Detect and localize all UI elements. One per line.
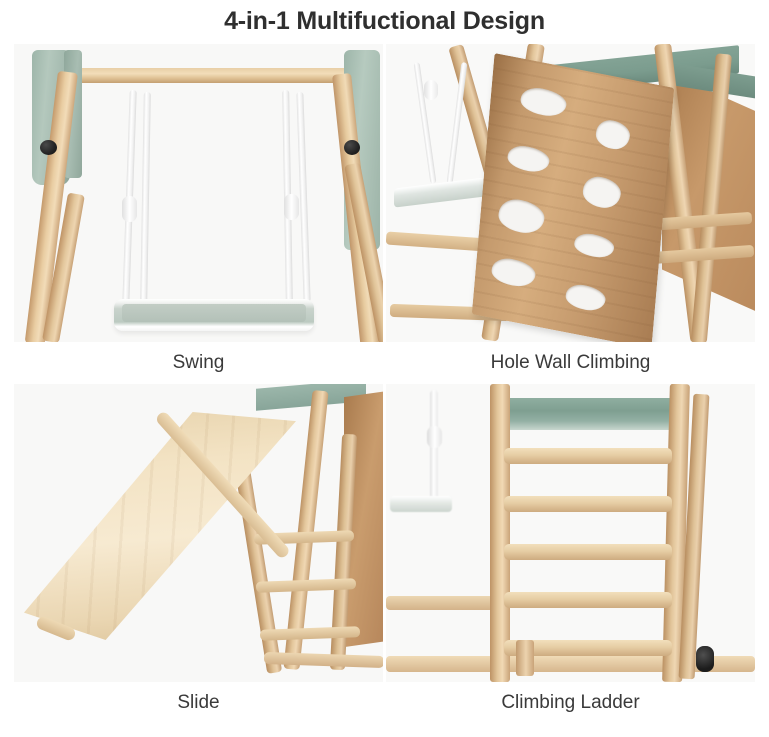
- swing-seat: [390, 496, 452, 512]
- ladder-rung: [504, 448, 672, 464]
- frame-support: [516, 640, 534, 676]
- feature-cell-climbing-ladder: Climbing Ladder: [386, 384, 755, 724]
- climbing-ladder-photo: [386, 384, 755, 682]
- ladder-rung: [504, 496, 672, 512]
- feature-cell-hole-wall-climbing: Hole Wall Climbing: [386, 44, 755, 384]
- ladder-rung: [504, 544, 672, 560]
- climbing-hole: [497, 196, 545, 237]
- swing-seat: [114, 299, 314, 331]
- swing-photo: [14, 44, 383, 342]
- climbing-hole: [565, 282, 607, 314]
- swing-rope-knot: [424, 80, 438, 100]
- page-title: 4-in-1 Multifuctional Design: [0, 0, 769, 40]
- feature-caption-slide: Slide: [14, 682, 383, 724]
- hole-wall-climbing-photo: [386, 44, 755, 342]
- climbing-hole: [491, 255, 537, 289]
- swing-rope-knot: [122, 196, 137, 222]
- climbing-hole: [520, 85, 568, 120]
- slide-photo: [14, 384, 383, 682]
- ladder-rung: [504, 592, 672, 608]
- swing-seat-surface: [122, 304, 306, 322]
- swing-left-knob-icon: [40, 140, 57, 155]
- feature-caption-swing: Swing: [14, 342, 383, 384]
- feature-caption-hole-wall-climbing: Hole Wall Climbing: [386, 342, 755, 384]
- swing-rope-knot: [284, 194, 299, 220]
- feature-grid: Swing: [14, 44, 755, 724]
- climbing-hole: [573, 231, 614, 261]
- feature-cell-swing: Swing: [14, 44, 383, 384]
- feature-caption-climbing-ladder: Climbing Ladder: [386, 682, 755, 724]
- hole-climbing-board: [472, 53, 674, 342]
- ladder-left-rail: [490, 384, 510, 682]
- ladder-top-platform: [504, 398, 672, 430]
- climbing-hole: [582, 174, 622, 211]
- swing-rope-knot: [427, 426, 442, 448]
- feature-cell-slide: Slide: [14, 384, 383, 724]
- swing-top-beam: [42, 68, 372, 83]
- swing-right-knob-icon: [344, 140, 360, 155]
- wheel-icon: [696, 646, 714, 672]
- climbing-hole: [595, 118, 631, 152]
- climbing-hole: [507, 143, 551, 175]
